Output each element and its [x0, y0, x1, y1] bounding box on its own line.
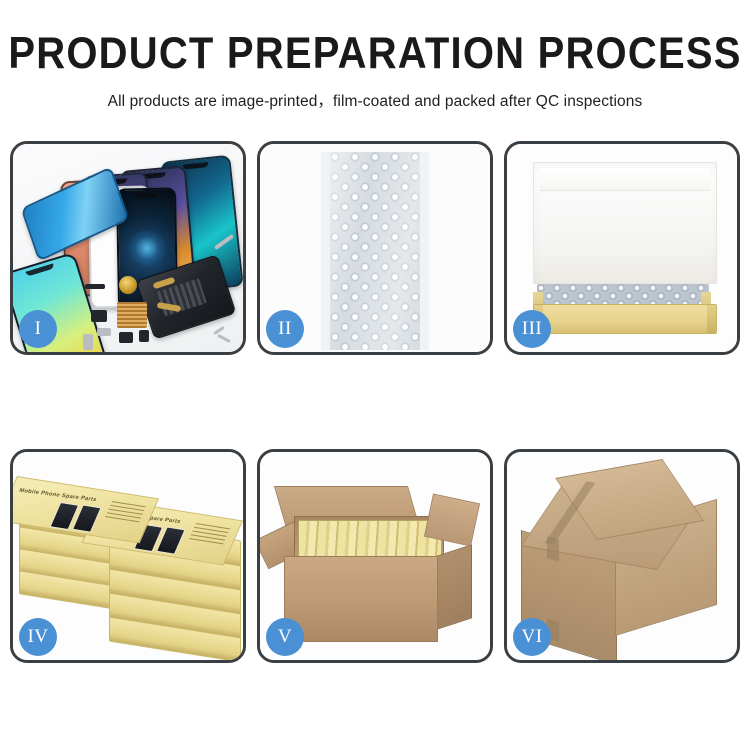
- carton-front-icon: [284, 556, 438, 642]
- step-badge-2: II: [266, 310, 304, 348]
- carton-tape-icon: [547, 536, 559, 562]
- process-step-panel-4[interactable]: Mobile Phone Spare Parts Mobile Phone Sp…: [10, 449, 246, 663]
- process-step-panel-2[interactable]: II: [257, 141, 493, 355]
- box-spec-lines: [104, 501, 146, 525]
- chip-array-icon: [117, 302, 147, 328]
- small-part-icon: [85, 284, 105, 289]
- page-subtitle: All products are image-printed，film-coat…: [0, 89, 750, 111]
- step-badge-5: V: [266, 618, 304, 656]
- page-header: PRODUCT PREPARATION PROCESS All products…: [0, 0, 750, 111]
- sim-tray-icon: [83, 334, 93, 350]
- metal-bracket-icon: [97, 328, 111, 336]
- process-step-panel-1[interactable]: I: [10, 141, 246, 355]
- page-title: PRODUCT PREPARATION PROCESS: [0, 30, 750, 77]
- step-badge-3: III: [513, 310, 551, 348]
- bubble-wrap-sleeve-icon: [321, 152, 429, 350]
- speaker-module-icon: [119, 332, 133, 343]
- process-step-grid: I II III: [10, 141, 740, 663]
- mailer-box-lid-icon: [533, 162, 717, 284]
- process-step-panel-3[interactable]: III: [504, 141, 740, 355]
- box-label-text: Mobile Phone Spare Parts: [18, 488, 97, 503]
- step-badge-4: IV: [19, 618, 57, 656]
- box-spec-lines: [188, 523, 230, 547]
- camera-module-icon: [91, 310, 107, 322]
- connector-icon: [139, 330, 149, 342]
- carton-right-side-icon: [436, 544, 472, 630]
- process-step-panel-6[interactable]: VI: [504, 449, 740, 663]
- process-step-panel-5[interactable]: V: [257, 449, 493, 663]
- mailer-box-front-icon: [533, 304, 717, 334]
- notch-icon: [135, 193, 157, 198]
- notch-icon: [25, 263, 54, 276]
- wireless-coil-icon: [119, 276, 137, 294]
- step-badge-6: VI: [513, 618, 551, 656]
- notch-icon: [183, 162, 210, 170]
- bubble-sheen: [330, 152, 420, 350]
- step-badge-1: I: [19, 310, 57, 348]
